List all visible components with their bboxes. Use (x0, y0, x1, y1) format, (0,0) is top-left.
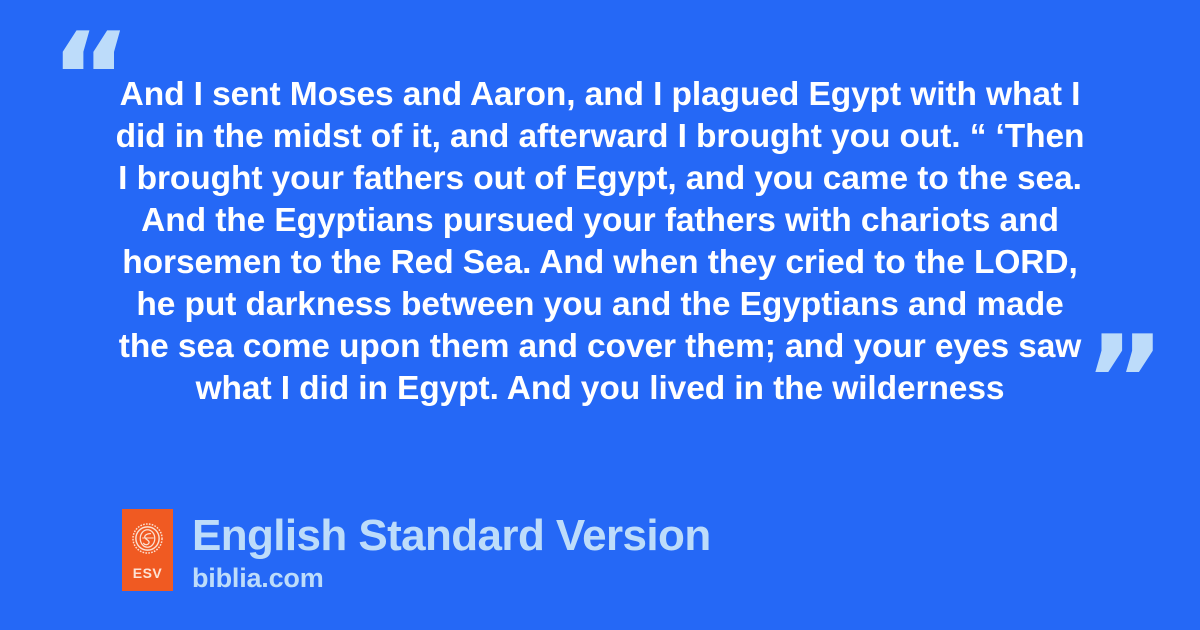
esv-seal-icon (132, 523, 163, 554)
bible-version-title: English Standard Version (192, 511, 711, 561)
quote-block: And I sent Moses and Aaron, and I plague… (112, 74, 1088, 410)
attribution-footer: ESV English Standard Version biblia.com (122, 509, 711, 594)
esv-logo-abbreviation: ESV (133, 566, 163, 580)
bible-verse-card: “ And I sent Moses and Aaron, and I plag… (0, 0, 1200, 630)
attribution-text: English Standard Version biblia.com (192, 509, 711, 594)
verse-text: And I sent Moses and Aaron, and I plague… (112, 74, 1088, 410)
site-url-label: biblia.com (192, 562, 711, 594)
esv-logo-badge: ESV (122, 509, 173, 591)
closing-quote-icon: ” (1084, 320, 1164, 444)
